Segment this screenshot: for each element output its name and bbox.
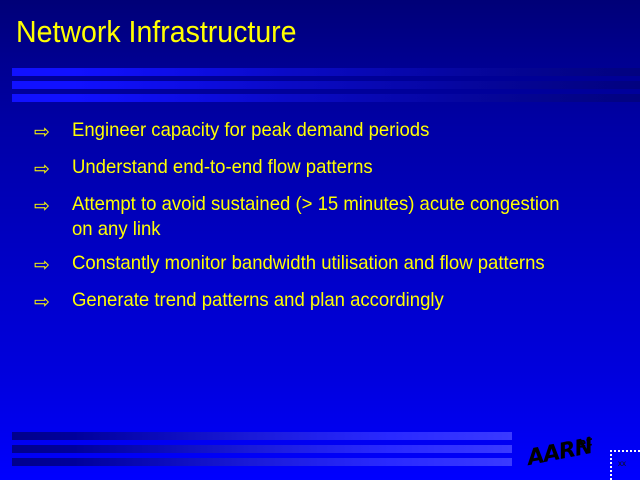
aarnet-logo-sub-text: et (576, 434, 594, 452)
list-item: ⇨ Constantly monitor bandwidth utilisati… (34, 251, 604, 279)
decorative-bar (12, 432, 512, 440)
decorative-bar (12, 68, 640, 76)
decorative-bar (12, 94, 640, 102)
slide: Network Infrastructure ⇨ Engineer capaci… (0, 0, 640, 480)
arrow-right-bullet-icon: ⇨ (34, 251, 72, 279)
list-item: ⇨ Understand end-to-end flow patterns (34, 155, 604, 183)
decorative-bar (12, 81, 640, 89)
list-item-label: Generate trend patterns and plan accordi… (72, 288, 577, 313)
list-item-label: Constantly monitor bandwidth utilisation… (72, 251, 577, 276)
arrow-right-bullet-icon: ⇨ (34, 118, 72, 146)
list-item: ⇨ Generate trend patterns and plan accor… (34, 288, 604, 316)
list-item-label: Understand end-to-end flow patterns (72, 155, 577, 180)
arrow-right-bullet-icon: ⇨ (34, 288, 72, 316)
list-item: ⇨ Attempt to avoid sustained (> 15 minut… (34, 192, 604, 242)
top-decorative-bars (12, 68, 640, 102)
list-item-label: Engineer capacity for peak demand period… (72, 118, 577, 143)
arrow-right-bullet-icon: ⇨ (34, 155, 72, 183)
corner-placeholder-box: xx (610, 450, 640, 480)
corner-placeholder-label: xx (618, 459, 626, 468)
bottom-decorative-bars (12, 432, 512, 466)
arrow-right-bullet-icon: ⇨ (34, 192, 72, 220)
page-title: Network Infrastructure (16, 14, 297, 50)
decorative-bar (12, 445, 512, 453)
list-item-label: Attempt to avoid sustained (> 15 minutes… (72, 192, 577, 242)
bullet-list: ⇨ Engineer capacity for peak demand peri… (34, 118, 604, 325)
aarnet-logo: AARN et (530, 432, 610, 468)
decorative-bar (12, 458, 512, 466)
list-item: ⇨ Engineer capacity for peak demand peri… (34, 118, 604, 146)
